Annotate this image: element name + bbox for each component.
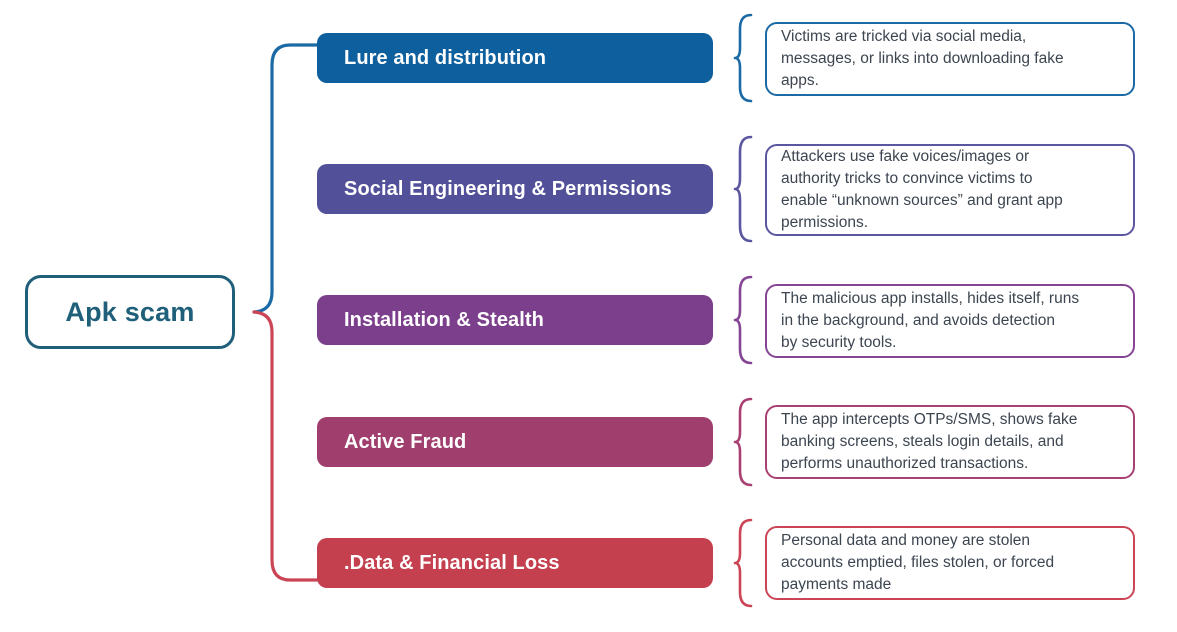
- branch-label: Lure and distribution: [344, 47, 546, 70]
- spine-upper-path: [254, 45, 317, 312]
- description-box-active-fraud: The app intercepts OTPs/SMS, shows fake …: [765, 405, 1135, 479]
- branch-bar-active-fraud[interactable]: Active Fraud: [317, 417, 713, 467]
- root-node[interactable]: Apk scam: [25, 275, 235, 349]
- description-text: The malicious app installs, hides itself…: [781, 288, 1079, 354]
- description-box-installation-and-stealth: The malicious app installs, hides itself…: [765, 284, 1135, 358]
- branch-bar-data-and-financial-loss[interactable]: .Data & Financial Loss: [317, 538, 713, 588]
- description-box-data-and-financial-loss: Personal data and money are stolen accou…: [765, 526, 1135, 600]
- branch-bar-lure-and-distribution[interactable]: Lure and distribution: [317, 33, 713, 83]
- branch-label: Social Engineering & Permissions: [344, 178, 672, 201]
- curly-brace-icon: [729, 538, 759, 588]
- description-box-lure-and-distribution: Victims are tricked via social media, me…: [765, 22, 1135, 96]
- root-node-label: Apk scam: [65, 297, 194, 328]
- spine-lower-path: [254, 312, 317, 580]
- description-text: Attackers use fake voices/images or auth…: [781, 146, 1063, 234]
- branch-label: Installation & Stealth: [344, 309, 544, 332]
- apk-scam-mind-map: Apk scam Lure and distribution Victims a…: [0, 0, 1177, 632]
- curly-brace-icon: [729, 33, 759, 83]
- description-text: The app intercepts OTPs/SMS, shows fake …: [781, 409, 1077, 475]
- branch-label: Active Fraud: [344, 431, 466, 454]
- branch-bar-installation-and-stealth[interactable]: Installation & Stealth: [317, 295, 713, 345]
- description-text: Personal data and money are stolen accou…: [781, 530, 1054, 596]
- curly-brace-icon: [729, 417, 759, 467]
- branch-bar-social-engineering-and-permissions[interactable]: Social Engineering & Permissions: [317, 164, 713, 214]
- description-text: Victims are tricked via social media, me…: [781, 26, 1064, 92]
- curly-brace-icon: [729, 295, 759, 345]
- branch-label: .Data & Financial Loss: [344, 552, 560, 575]
- description-box-social-engineering-and-permissions: Attackers use fake voices/images or auth…: [765, 144, 1135, 236]
- curly-brace-icon: [729, 164, 759, 214]
